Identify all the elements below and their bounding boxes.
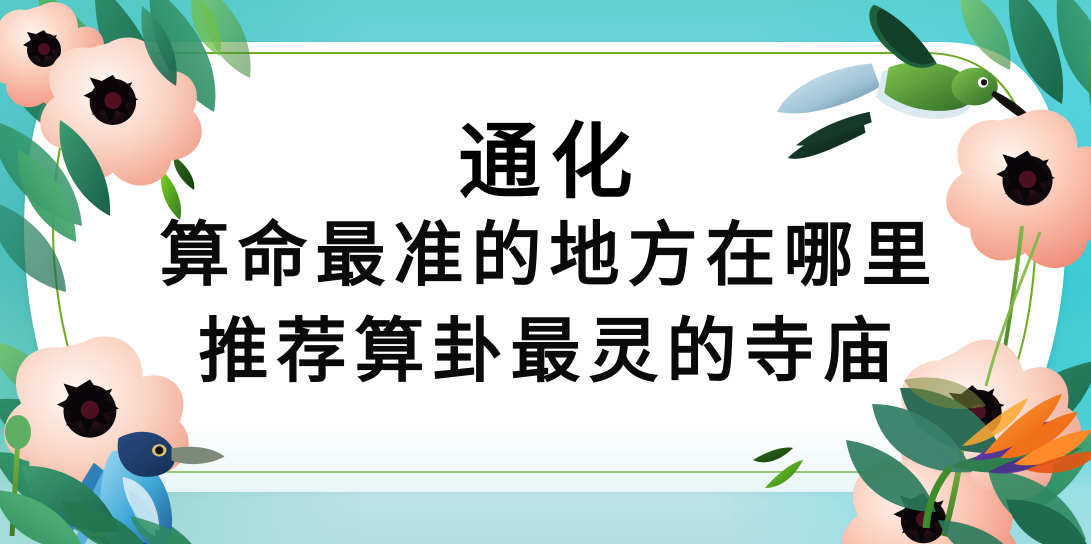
leaf-sliver-left [150,148,260,238]
bottom-haze-overlay [0,424,1091,544]
poster-canvas: 通化 算命最准的地方在哪里 推荐算卦最灵的寺庙 [0,0,1091,544]
leaf-sliver-right [745,424,865,514]
